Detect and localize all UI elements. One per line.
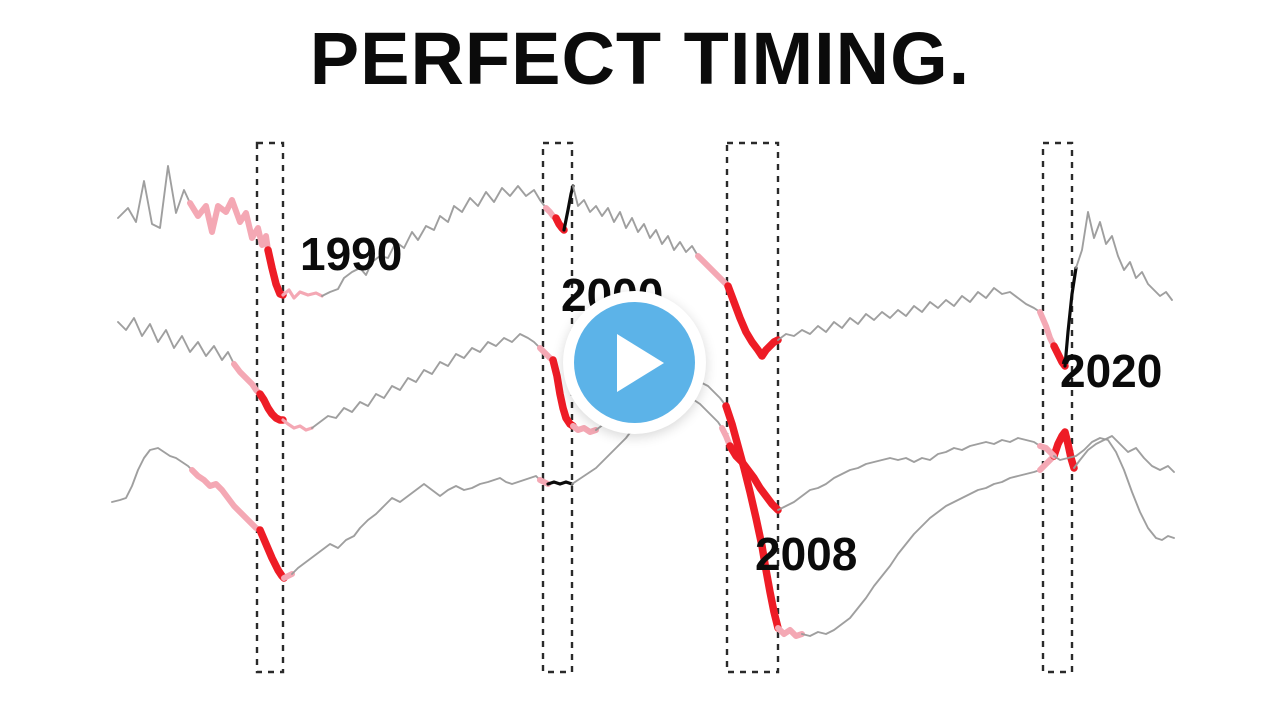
series-2-segment-14-normal bbox=[1074, 436, 1174, 472]
series-2-segment-13-decline_strong bbox=[1054, 432, 1074, 468]
series-1-segment-15-normal bbox=[1076, 212, 1172, 300]
series-3-segment-4-normal bbox=[292, 476, 540, 574]
play-button-circle bbox=[574, 302, 695, 423]
series-1-segment-11-normal bbox=[778, 288, 1040, 340]
play-triangle-icon bbox=[617, 334, 664, 392]
series-2-segment-10-decline_soft bbox=[778, 628, 802, 636]
series-3-segment-6-recovery bbox=[548, 482, 572, 484]
series-2-segment-4-normal bbox=[312, 334, 540, 428]
series-2-segment-1-decline_soft bbox=[234, 364, 260, 394]
series-3-segment-2-decline_strong bbox=[260, 530, 284, 578]
series-1-segment-2-decline_strong bbox=[268, 250, 283, 295]
series-2-segment-2-decline_strong bbox=[260, 394, 283, 420]
series-3-segment-10-normal bbox=[778, 438, 1040, 510]
series-3-segment-0-normal bbox=[112, 448, 192, 502]
series-2-segment-0-normal bbox=[118, 318, 234, 364]
play-button[interactable] bbox=[563, 291, 706, 434]
annotation-label-2008: 2008 bbox=[755, 531, 857, 577]
series-1-segment-10-decline_strong bbox=[728, 286, 778, 356]
series-1-segment-3-recovery_soft bbox=[283, 290, 322, 298]
series-2-segment-9-decline_strong bbox=[726, 406, 778, 628]
annotation-label-1990: 1990 bbox=[300, 231, 402, 277]
series-2-segment-3-recovery_soft bbox=[283, 420, 312, 430]
series-1-segment-0-normal bbox=[118, 166, 190, 228]
series-2-segment-7-decline_soft bbox=[573, 426, 596, 432]
series-1-segment-9-decline_soft bbox=[698, 256, 728, 286]
series-3-segment-1-decline_soft bbox=[192, 470, 260, 530]
annotation-label-2020: 2020 bbox=[1060, 348, 1162, 394]
recession-band-2020 bbox=[1043, 143, 1072, 672]
series-1-segment-8-normal bbox=[573, 186, 698, 256]
video-thumbnail: PERFECT TIMING. 1990 2000 2008 2020 bbox=[0, 0, 1280, 720]
series-3-segment-3-decline_soft bbox=[284, 574, 292, 578]
